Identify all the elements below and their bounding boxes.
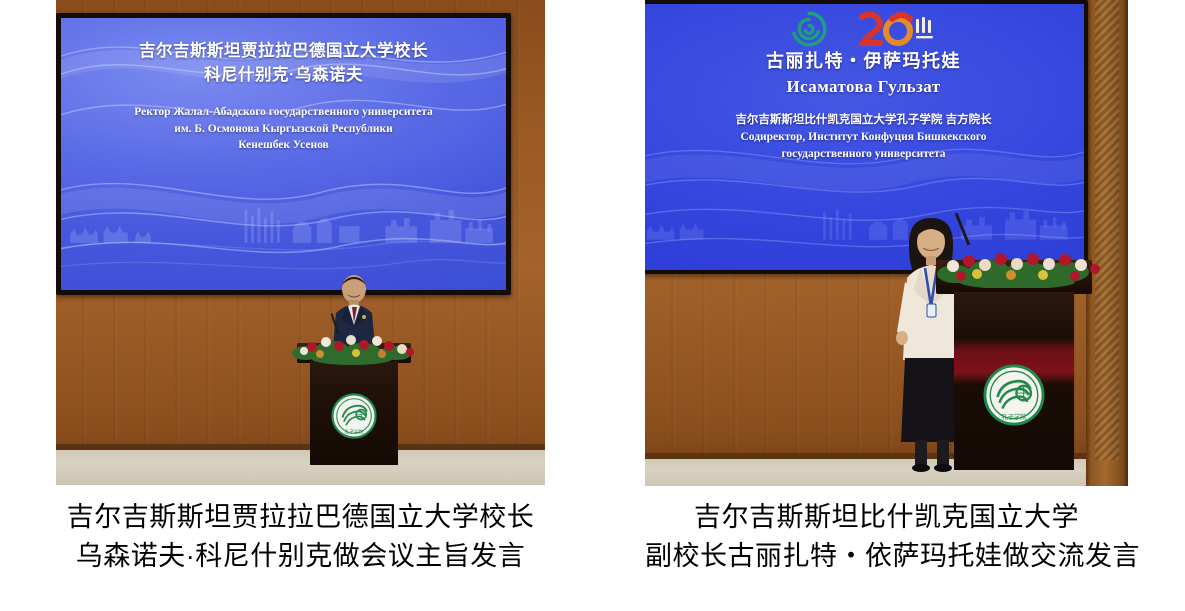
silk-road-silhouette [61,187,506,290]
led-screen-right: 古丽扎特・伊萨玛托娃 Исаматова Гульзат 吉尔吉斯斯坦比什凯克国… [645,4,1084,270]
speaker-title-ru-line1: Содиректор, Институт Конфуция Бишкекског… [657,129,1070,146]
caption-left-line2: 乌森诺夫·科尼什别克做会议主旨发言 [56,537,545,576]
podium-body-right: 孔子学院 [954,292,1073,470]
speaker-name-cn-line1: 吉尔吉斯斯坦贾拉拉巴德国立大学校长 [71,40,496,64]
caption-left-line1: 吉尔吉斯斯坦贾拉拉巴德国立大学校长 [56,498,545,537]
speaker-title-ru-line1: Ректор Жалал-Абадского государственного … [75,104,492,121]
confucius-institute-logo-icon [788,8,830,50]
podium-right: 孔子学院 [943,260,1085,470]
caption-right: 吉尔吉斯斯坦比什凯克国立大学 副校长古丽扎特・依萨玛托娃做交流发言 [645,498,1128,577]
caption-left: 吉尔吉斯斯坦贾拉拉巴德国立大学校长 乌森诺夫·科尼什别克做会议主旨发言 [56,498,545,577]
led-screen-left: 吉尔吉斯斯坦贾拉拉巴德国立大学校长 科尼什别克·乌森诺夫 Ректор Жала… [61,18,506,290]
speaker-name-ru: Кенешбек Усенов [75,137,492,154]
svg-text:孔子学院: 孔子学院 [1001,412,1027,421]
figure-left: 吉尔吉斯斯坦贾拉拉巴德国立大学校长 科尼什别克·乌森诺夫 Ректор Жала… [56,0,545,485]
flower-arrangement-left [292,321,420,365]
speaker-title-block-right: 吉尔吉斯斯坦比什凯克国立大学孔子学院 吉方院长 Содиректор, Инст… [645,112,1084,163]
photo-right: 古丽扎特・伊萨玛托娃 Исаматова Гульзат 吉尔吉斯斯坦比什凯克国… [645,0,1128,486]
speaker-name-cn-line2: 科尼什别克·乌森诺夫 [71,64,496,88]
podium-body-left: 孔子学院 [310,361,397,465]
speaker-title-ru-line2: государственного университета [657,146,1070,163]
twentieth-anniversary-logo-icon [854,9,940,49]
screen-text-right: 古丽扎特・伊萨玛托娃 Исаматова Гульзат 吉尔吉斯斯坦比什凯克国… [645,48,1084,163]
speaker-name-ru: Исаматова Гульзат [653,76,1074,98]
led-screen-frame-right: 古丽扎特・伊萨玛托娃 Исаматова Гульзат 吉尔吉斯斯坦比什凯克国… [645,0,1088,274]
caption-right-line2: 副校长古丽扎特・依萨玛托娃做交流发言 [645,537,1128,576]
flower-arrangement-right [937,236,1103,288]
auditorium-floor [56,449,545,485]
confucius-institute-emblem-icon: 孔子学院 [331,393,377,439]
screen-logo-row [645,8,1084,50]
speaker-name-cn: 古丽扎特・伊萨玛托娃 [653,48,1074,74]
speaker-title-block-left: Ректор Жалал-Абадского государственного … [61,104,506,154]
speaker-title-ru-line2: им. Б. Осмонова Кыргызской Республики [75,121,492,138]
led-screen-frame-left: 吉尔吉斯斯坦贾拉拉巴德国立大学校长 科尼什别克·乌森诺夫 Ректор Жала… [56,13,511,295]
speaker-title-cn: 吉尔吉斯斯坦比什凯克国立大学孔子学院 吉方院长 [657,112,1070,129]
screen-text-left: 吉尔吉斯斯坦贾拉拉巴德国立大学校长 科尼什别克·乌森诺夫 Ректор Жала… [61,40,506,154]
photo-left: 吉尔吉斯斯坦贾拉拉巴德国立大学校长 科尼什别克·乌森诺夫 Ректор Жала… [56,0,545,485]
figure-page: 吉尔吉斯斯坦贾拉拉巴德国立大学校长 科尼什别克·乌森诺夫 Ректор Жала… [0,0,1185,611]
caption-right-line1: 吉尔吉斯斯坦比什凯克国立大学 [645,498,1128,537]
confucius-institute-emblem-icon: 孔子学院 [983,364,1045,426]
figure-right: 古丽扎特・伊萨玛托娃 Исаматова Гульзат 吉尔吉斯斯坦比什凯克国… [645,0,1128,486]
